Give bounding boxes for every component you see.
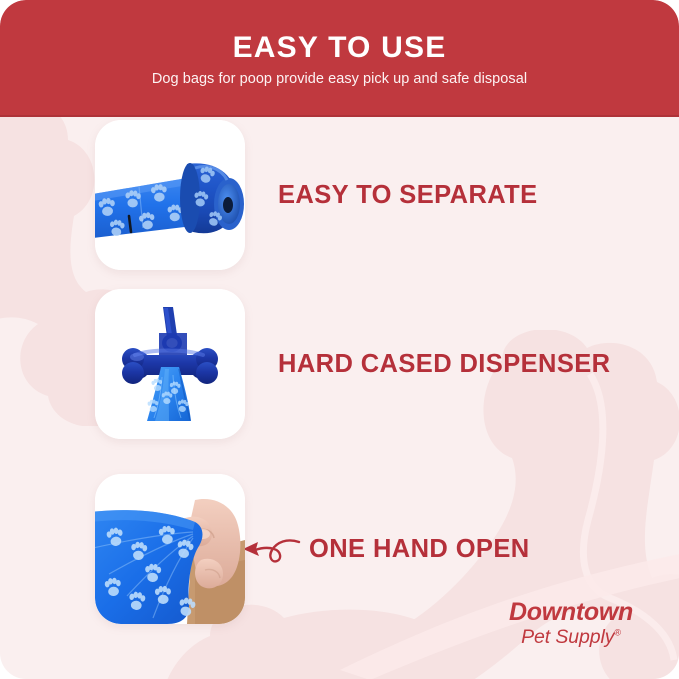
feature-list: EASY TO SEPARATE [0,117,679,679]
one-hand-open-photo [95,474,245,624]
curved-arrow-icon [239,526,301,572]
feature-label-hard-cased-dispenser: HARD CASED DISPENSER [278,350,610,379]
brand-logo: Downtown Pet Supply® [509,600,633,648]
feature-row-easy-to-separate: EASY TO SEPARATE [0,120,679,270]
registered-trademark-icon: ® [614,627,621,637]
brand-logo-line2-text: Pet Supply [521,626,614,648]
feature-label-easy-to-separate: EASY TO SEPARATE [278,181,538,210]
header-banner: EASY TO USE Dog bags for poop provide ea… [0,0,679,117]
bone-dispenser-photo [95,289,245,439]
blue-bag-roll-photo [95,120,245,270]
brand-logo-line1: Downtown [509,600,633,625]
feature-row-hard-cased-dispenser: HARD CASED DISPENSER [0,289,679,439]
brand-logo-line2: Pet Supply® [509,628,633,648]
page-subtitle: Dog bags for poop provide easy pick up a… [152,72,527,87]
page-title: EASY TO USE [233,33,447,63]
product-infographic: EASY TO USE Dog bags for poop provide ea… [0,0,679,679]
feature-label-one-hand-open: ONE HAND OPEN [309,535,530,564]
